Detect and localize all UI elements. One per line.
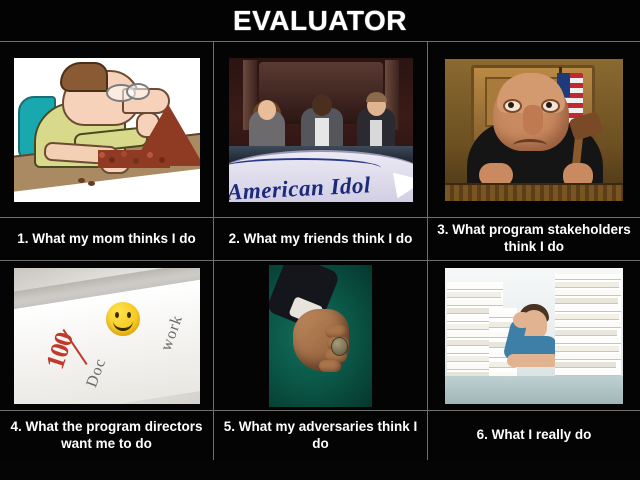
caption-cell-3: 3. What program stakeholders think I do: [428, 218, 640, 260]
cell-1-image: [0, 42, 214, 217]
meme-title-bar: EVALUATOR: [0, 0, 640, 42]
cell-2-image-wrap: American Idol: [214, 42, 427, 217]
meme-title: EVALUATOR: [233, 5, 407, 37]
idol-logo-text: American Idol: [229, 172, 371, 202]
paper-sheet: [447, 300, 503, 306]
cell-2-image: American Idol: [214, 42, 428, 217]
finger-pinky: [319, 360, 341, 372]
caption-cell-2: 2. What my friends think I do: [214, 218, 428, 260]
paper-sheet: [555, 274, 621, 280]
paper-sheet: [447, 284, 503, 290]
judge-female-head: [258, 100, 276, 120]
judge-pupil-right: [546, 102, 552, 108]
coin: [331, 337, 348, 356]
caption-cell-5: 5. What my adversaries think I do: [214, 411, 428, 460]
glasses-lens-right: [126, 83, 150, 100]
bench-front-edge: [445, 183, 623, 201]
paper-sheet: [555, 282, 619, 288]
paper-sheet: [555, 298, 618, 304]
bean-pile-texture: [98, 150, 170, 168]
paper-sheet: [555, 314, 619, 320]
cell-5-image: [214, 261, 428, 410]
cell-6-image-wrap: [428, 261, 640, 410]
person-hand-on-forehead: [513, 312, 531, 328]
paper-sheet: [555, 362, 616, 368]
cell-5-image-wrap: [214, 261, 427, 410]
hand-holding-coin-photo: [269, 265, 372, 407]
cell-3-image: [428, 42, 640, 217]
judge-frown: [513, 139, 547, 152]
caption-row-bottom: 4. What the program directors want me to…: [0, 410, 640, 460]
bean-counter-cartoon: [14, 58, 200, 202]
image-row-top: American Idol: [0, 42, 640, 217]
cell-4-image: 100 Doc work: [0, 261, 214, 410]
meme-grid: American Idol: [0, 42, 640, 480]
paper-sheet: [555, 346, 619, 352]
bean-crumb: [78, 178, 85, 183]
idol-desk-panel: American Idol: [229, 150, 413, 202]
caption-cell-1: 1. What my mom thinks I do: [0, 218, 214, 260]
paper-sheet: [555, 354, 621, 360]
caption-cell-4: 4. What the program directors want me to…: [0, 411, 214, 460]
bean-crumb: [88, 181, 95, 186]
image-row-bottom: 100 Doc work: [0, 261, 640, 410]
paper-sheet: [555, 330, 617, 336]
person-arm-resting: [507, 354, 559, 367]
idol-logo-swoosh: [392, 167, 412, 198]
smiley-mouth: [113, 317, 133, 331]
caption-row-top: 1. What my mom thinks I do 2. What my fr…: [0, 217, 640, 261]
stern-judge-caricature: [445, 59, 623, 201]
paper-sheet: [555, 290, 621, 296]
paper-sheet: [555, 338, 621, 344]
smiley-face-sticker: [106, 302, 140, 336]
finger-index: [325, 325, 347, 338]
meme-image: EVALUATOR: [0, 0, 640, 480]
desk-surface: [445, 376, 623, 404]
cell-6-image: [428, 261, 640, 410]
judge-center-head: [312, 94, 332, 116]
american-idol-judges-photo: American Idol: [229, 58, 413, 202]
cell-3-image-wrap: [428, 42, 640, 217]
paper-stack-right: [555, 274, 621, 378]
paper-sheet: [555, 306, 621, 312]
man-hair: [60, 62, 108, 92]
cell-4-image-wrap: 100 Doc work: [0, 261, 213, 410]
paper-sheet: [555, 322, 621, 328]
cell-1-image-wrap: [0, 42, 213, 217]
judge-nose: [523, 105, 543, 135]
judge-pupil-left: [508, 102, 514, 108]
buried-in-paperwork-photo: [445, 268, 623, 404]
graded-paper-photo: 100 Doc work: [14, 268, 200, 404]
caption-cell-6: 6. What I really do: [428, 411, 640, 460]
paper-sheet: [447, 292, 501, 298]
